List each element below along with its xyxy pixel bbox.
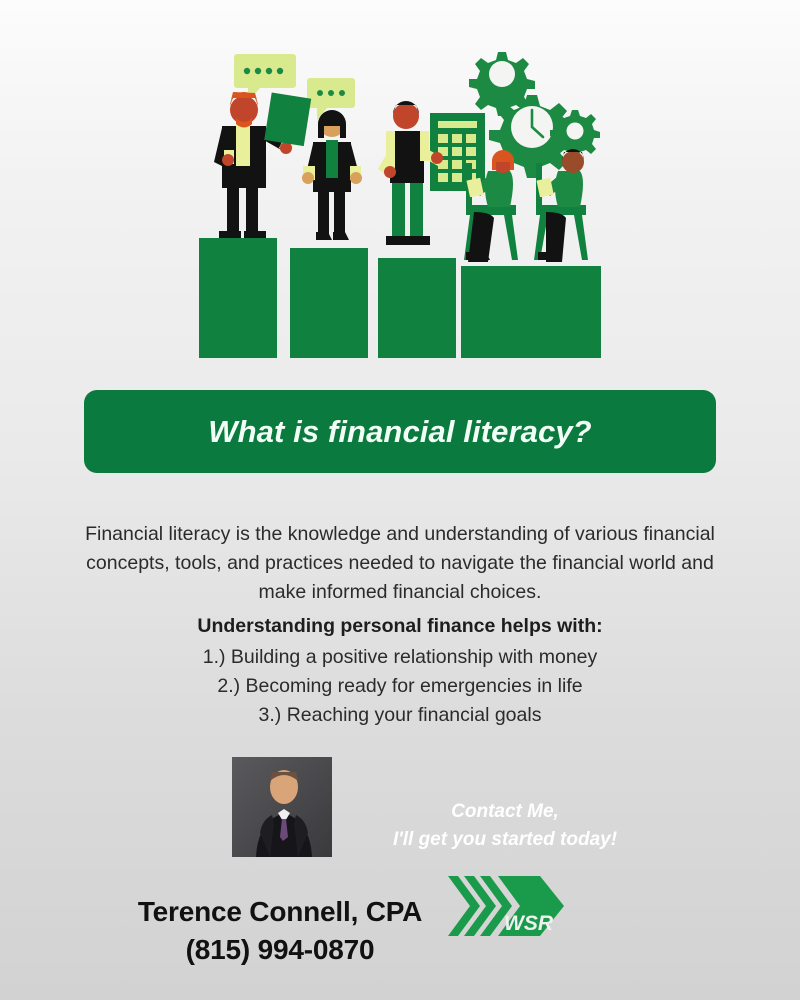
contact-phone: (815) 994-0870 — [60, 934, 500, 966]
headline-banner: What is financial literacy? — [84, 390, 716, 473]
podium-block-2 — [290, 248, 368, 358]
contact-callout: Contact Me, I'll get you started today! — [380, 798, 630, 854]
list-subheading: Understanding personal finance helps wit… — [70, 615, 730, 638]
list-item: 1.) Building a positive relationship wit… — [70, 643, 730, 672]
person-standing-1 — [214, 92, 311, 243]
intro-paragraph: Financial literacy is the knowledge and … — [70, 520, 730, 607]
poster-root: What is financial literacy? Financial li… — [0, 0, 800, 1000]
list-item: 2.) Becoming ready for emergencies in li… — [70, 672, 730, 701]
benefits-list: 1.) Building a positive relationship wit… — [70, 643, 730, 730]
podium-block-1 — [199, 238, 277, 358]
page-title: What is financial literacy? — [208, 414, 591, 450]
podium-block-3 — [378, 258, 456, 358]
avatar — [232, 757, 332, 857]
contact-line-1: Contact Me, — [380, 798, 630, 826]
contact-name: Terence Connell, CPA — [60, 896, 500, 928]
logo-text: WSR — [504, 912, 554, 935]
podium-block-4 — [461, 266, 601, 358]
person-standing-2 — [302, 110, 362, 240]
hero-illustration — [0, 0, 800, 370]
list-item: 3.) Reaching your financial goals — [70, 701, 730, 730]
contact-line-2: I'll get you started today! — [380, 826, 630, 854]
